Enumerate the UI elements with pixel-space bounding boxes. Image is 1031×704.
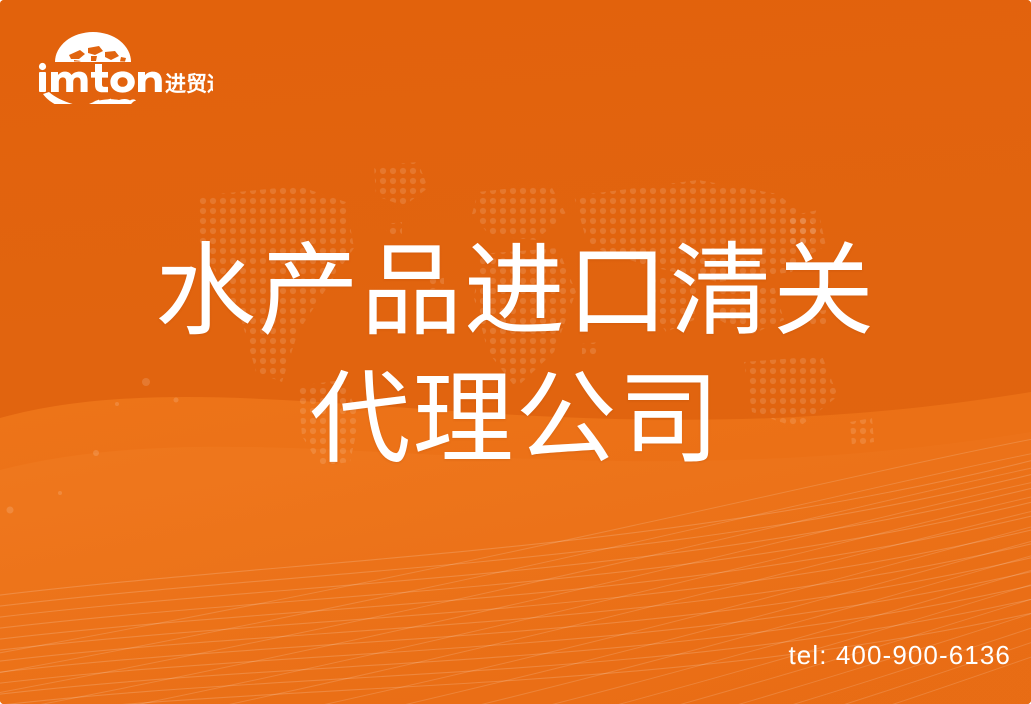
contact-phone[interactable]: tel: 400-900-6136 [788,640,1011,671]
headline-line-2: 代理公司 [0,356,1031,484]
logo-wordmark-chinese: 进贸通 [165,72,213,96]
promo-banner: 进贸通 ® 水产品进口清关 代理公司 tel: 400-900-6136 [0,0,1031,704]
logo-wordmark-latin [39,63,162,93]
globe-dome-icon [55,32,131,62]
page-title: 水产品进口清关 代理公司 [0,228,1031,485]
company-logo[interactable]: 进贸通 ® [33,28,213,104]
headline-line-1: 水产品进口清关 [0,228,1031,356]
crocodile-swoosh-icon [43,92,141,104]
